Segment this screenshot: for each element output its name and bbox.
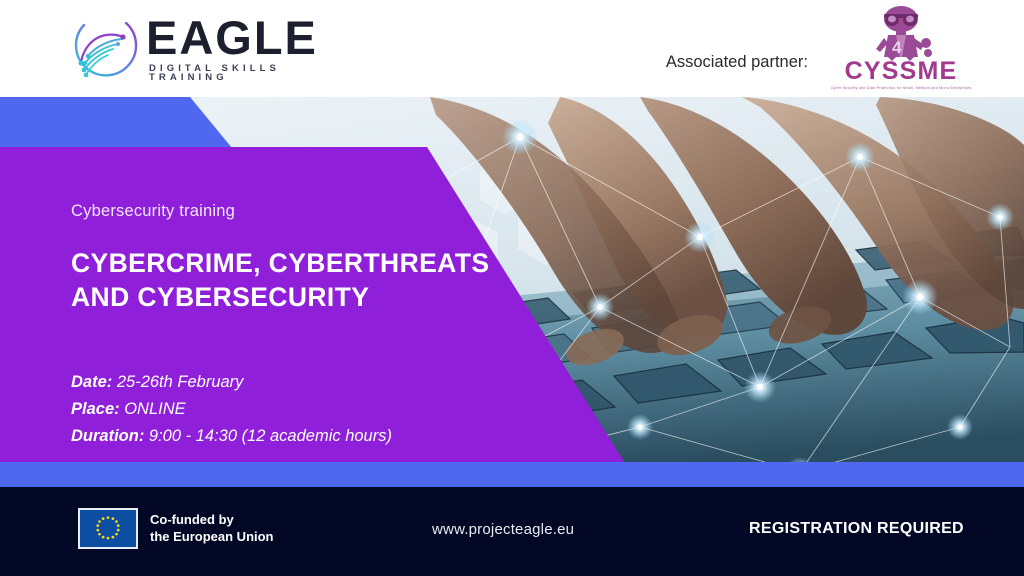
eagle-network-bird-icon: [66, 13, 140, 83]
eagle-name: EAGLE: [146, 14, 336, 61]
detail-value-place: ONLINE: [124, 400, 185, 418]
eu-stars: [80, 510, 136, 547]
hero-details: Date: 25-26th February Place: ONLINE Dur…: [71, 369, 501, 450]
cyssme-name: CYSSME: [845, 59, 958, 84]
website-link[interactable]: www.projecteagle.eu: [432, 521, 574, 538]
hero-content: Cybersecurity training CYBERCRIME, CYBER…: [71, 147, 501, 463]
blue-accent-band-bottom: [0, 462, 1024, 487]
eu-funding-block: Co-funded by the European Union: [78, 508, 274, 549]
eu-funding-text: Co-funded by the European Union: [150, 512, 274, 545]
cyssme-partner-logo: 4 CYSSME Cyber Security and Data Protect…: [830, 5, 972, 93]
registration-required-note: REGISTRATION REQUIRED: [749, 520, 964, 538]
detail-row-duration: Duration: 9:00 - 14:30 (12 academic hour…: [71, 423, 501, 450]
detail-row-date: Date: 25-26th February: [71, 369, 501, 396]
hero-eyebrow: Cybersecurity training: [71, 202, 235, 221]
eu-funding-line-2: the European Union: [150, 529, 274, 544]
cyssme-tagline: Cyber Security and Data Protection for S…: [831, 86, 972, 90]
training-poster: EAGLE DIGITAL SKILLS TRAINING Associated…: [0, 0, 1024, 576]
detail-label-date: Date:: [71, 373, 112, 391]
cyssme-mascot-icon: 4: [862, 5, 940, 61]
eagle-wordmark: EAGLE DIGITAL SKILLS TRAINING: [146, 14, 336, 83]
detail-row-place: Place: ONLINE: [71, 396, 501, 423]
hero-title: CYBERCRIME, CYBERTHREATS AND CYBERSECURI…: [71, 247, 491, 314]
eu-funding-line-1: Co-funded by: [150, 512, 234, 527]
detail-value-duration: 9:00 - 14:30 (12 academic hours): [149, 427, 392, 445]
eagle-tagline: DIGITAL SKILLS TRAINING: [146, 64, 336, 83]
associated-partner-label: Associated partner:: [666, 27, 808, 72]
european-union-flag-icon: [78, 508, 138, 549]
page-header: EAGLE DIGITAL SKILLS TRAINING Associated…: [0, 0, 1024, 97]
eagle-brand-logo: EAGLE DIGITAL SKILLS TRAINING: [66, 12, 336, 84]
associated-partner-block: Associated partner:: [666, 4, 972, 94]
svg-text:4: 4: [892, 38, 902, 57]
detail-value-date: 25-26th February: [117, 373, 244, 391]
detail-label-duration: Duration:: [71, 427, 144, 445]
detail-label-place: Place:: [71, 400, 120, 418]
